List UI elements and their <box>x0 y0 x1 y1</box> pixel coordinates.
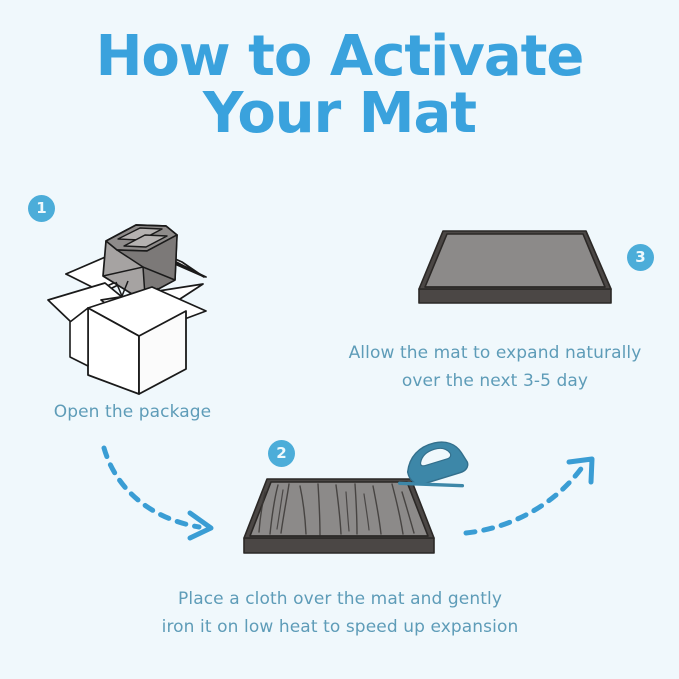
step-2-caption-line-2: iron it on low heat to speed up expansio… <box>110 613 570 641</box>
cardboard-box-icon <box>48 225 206 394</box>
dashed-curved-arrow-down-right <box>104 448 211 538</box>
step-badge-2: 2 <box>268 440 295 467</box>
flat-mat-icon <box>419 231 611 303</box>
step-2-caption-line-1: Place a cloth over the mat and gently <box>110 585 570 613</box>
step-3-caption: Allow the mat to expand naturally over t… <box>320 339 670 395</box>
step-badge-1: 1 <box>28 195 55 222</box>
iron-icon <box>400 435 470 492</box>
step-3-caption-line-2: over the next 3-5 day <box>320 367 670 395</box>
step-1-caption-line-1: Open the package <box>0 398 265 426</box>
infographic-canvas: How to Activate Your Mat <box>0 0 679 679</box>
step-2-caption: Place a cloth over the mat and gently ir… <box>110 585 570 641</box>
creased-mat-icon <box>244 479 434 553</box>
dashed-curved-arrow-up-right <box>466 459 592 533</box>
step-1-caption: Open the package <box>0 398 265 426</box>
step-3-caption-line-1: Allow the mat to expand naturally <box>320 339 670 367</box>
step-badge-3: 3 <box>627 244 654 271</box>
